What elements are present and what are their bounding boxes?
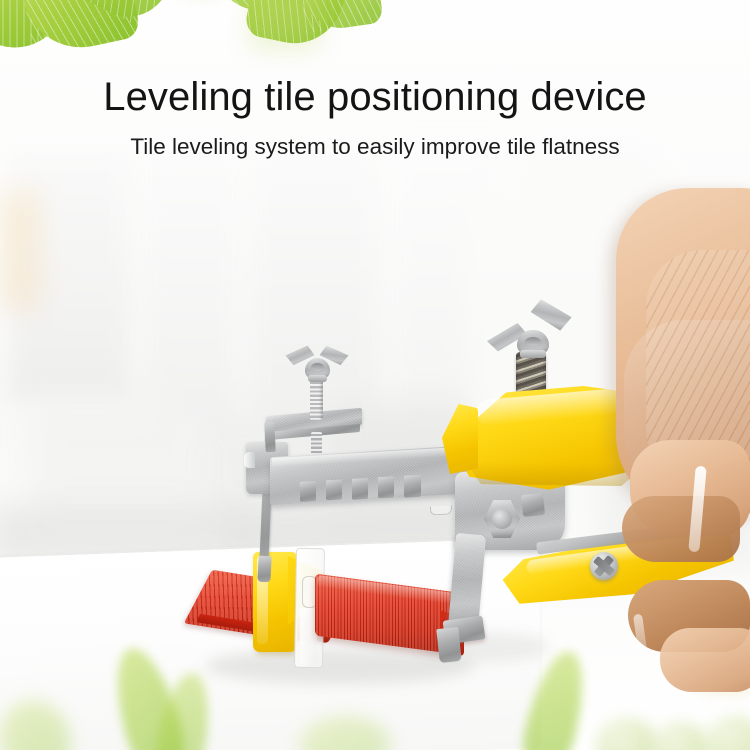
left-bracket-side-wall (264, 422, 276, 452)
jaw-foot-tip (436, 627, 461, 663)
middle-finger (622, 496, 740, 562)
yellow-upper-handle-shade (458, 462, 648, 486)
hex-bolt-pivot (484, 500, 520, 538)
pivot-side-block (521, 493, 545, 517)
left-bracket-notch (244, 452, 255, 468)
tile-leveling-pliers (0, 0, 750, 750)
pinky-finger (660, 628, 750, 692)
product-image-canvas: Leveling tile positioning device Tile le… (0, 0, 750, 750)
right-wing-nut (487, 306, 571, 362)
left-wing-nut (286, 344, 348, 388)
left-arm-foot (257, 556, 271, 583)
bar-hook-detail (430, 505, 452, 515)
left-bolt-lower-thread (311, 432, 322, 456)
